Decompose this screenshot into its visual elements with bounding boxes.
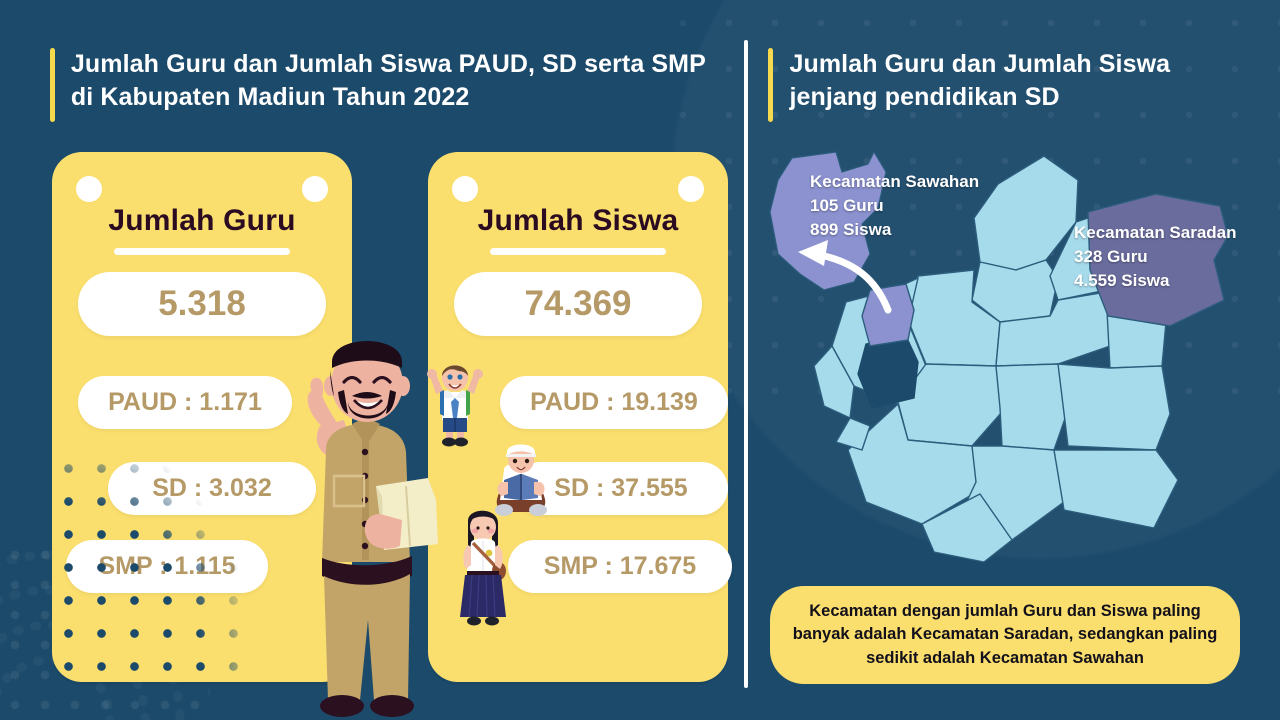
card-punch-hole-left bbox=[452, 176, 478, 202]
panel-divider bbox=[744, 40, 748, 688]
card-siswa-row-smp: SMP : 17.675 bbox=[508, 540, 732, 593]
card-guru-row-sd: SD : 3.032 bbox=[108, 462, 316, 515]
map-label-sawahan-teachers: 105 Guru bbox=[810, 194, 979, 218]
map-district bbox=[1054, 450, 1178, 528]
right-panel-title: Jumlah Guru dan Jumlah Siswa jenjang pen… bbox=[768, 48, 1238, 122]
left-title-text: Jumlah Guru dan Jumlah Siswa PAUD, SD se… bbox=[71, 48, 710, 113]
map-district-sawahan-inline bbox=[862, 284, 914, 346]
card-siswa-underline bbox=[490, 248, 666, 255]
card-guru-underline bbox=[114, 248, 290, 255]
card-punch-hole-left bbox=[76, 176, 102, 202]
title-accent-bar bbox=[50, 48, 55, 122]
map-label-saradan: Kecamatan Saradan 328 Guru 4.559 Siswa bbox=[1074, 221, 1237, 293]
map-label-sawahan: Kecamatan Sawahan 105 Guru 899 Siswa bbox=[810, 170, 979, 242]
left-panel-title: Jumlah Guru dan Jumlah Siswa PAUD, SD se… bbox=[50, 48, 710, 122]
card-jumlah-siswa: Jumlah Siswa 74.369 PAUD : 19.139 SD : 3… bbox=[428, 152, 728, 682]
map-enclave-madiun-city bbox=[858, 336, 918, 408]
card-guru-heading: Jumlah Guru bbox=[52, 204, 352, 238]
card-punch-hole-right bbox=[302, 176, 328, 202]
card-jumlah-guru: Jumlah Guru 5.318 PAUD : 1.171 SD : 3.03… bbox=[52, 152, 352, 682]
map-label-sawahan-students: 899 Siswa bbox=[810, 218, 979, 242]
card-punch-hole-right bbox=[678, 176, 704, 202]
card-guru-row-smp: SMP : 1.115 bbox=[66, 540, 268, 593]
map-district bbox=[996, 364, 1068, 450]
card-siswa-heading: Jumlah Siswa bbox=[428, 204, 728, 238]
map-label-saradan-district: Kecamatan Saradan bbox=[1074, 221, 1237, 245]
card-guru-row-paud: PAUD : 1.171 bbox=[78, 376, 292, 429]
card-siswa-row-paud: PAUD : 19.139 bbox=[500, 376, 728, 429]
infographic-canvas: Jumlah Guru dan Jumlah Siswa PAUD, SD se… bbox=[0, 0, 1280, 720]
right-title-text: Jumlah Guru dan Jumlah Siswa jenjang pen… bbox=[789, 48, 1238, 113]
map-label-saradan-students: 4.559 Siswa bbox=[1074, 269, 1237, 293]
map-caption-box: Kecamatan dengan jumlah Guru dan Siswa p… bbox=[770, 586, 1240, 684]
title-accent-bar bbox=[768, 48, 773, 122]
card-siswa-total: 74.369 bbox=[454, 272, 702, 336]
card-siswa-row-sd: SD : 37.555 bbox=[514, 462, 728, 515]
card-guru-total: 5.318 bbox=[78, 272, 326, 336]
map-label-sawahan-district: Kecamatan Sawahan bbox=[810, 170, 979, 194]
map-district bbox=[1058, 364, 1170, 450]
map-label-saradan-teachers: 328 Guru bbox=[1074, 245, 1237, 269]
